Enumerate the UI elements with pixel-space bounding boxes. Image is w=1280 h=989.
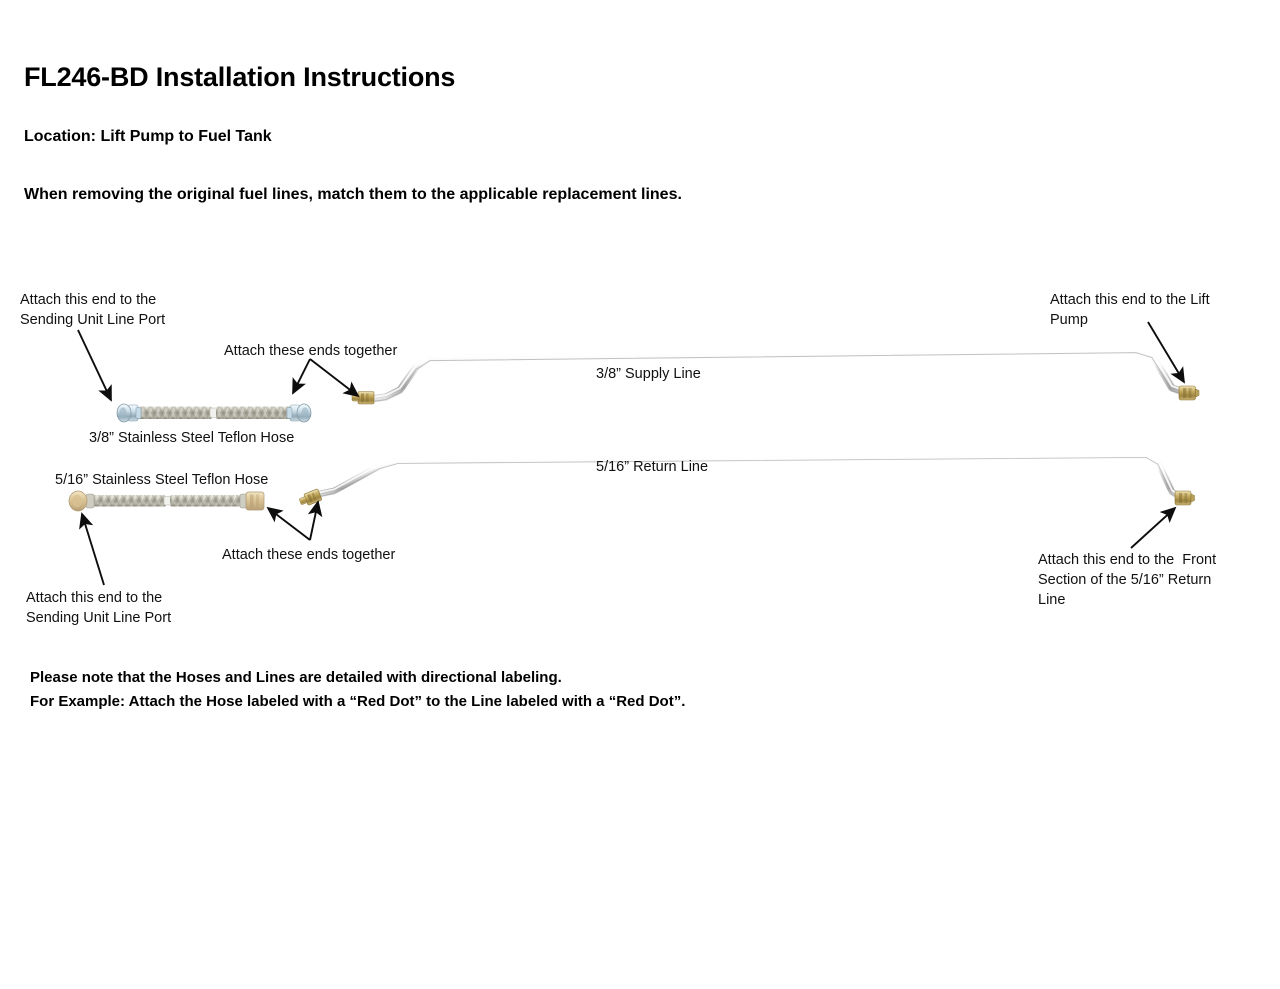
arrow-return-join-right [310, 502, 318, 540]
return-teflon-hose [69, 491, 264, 511]
supply-line-tube [372, 348, 1186, 402]
installation-instructions-page: FL246-BD Installation Instructions Locat… [0, 0, 1280, 989]
label-return-hose: 5/16” Stainless Steel Teflon Hose [55, 470, 268, 490]
annotation-return-front-section: Attach this end to the Front Section of … [1038, 550, 1216, 610]
arrow-return-hose-sending-unit [82, 514, 104, 585]
supply-line-lift-pump-fitting [1179, 386, 1199, 400]
annotation-supply-lift-pump: Attach this end to the Lift Pump [1050, 290, 1210, 330]
arrow-return-front-section [1131, 508, 1175, 548]
return-line-tube [320, 453, 1182, 500]
arrow-return-join-left [268, 508, 310, 540]
annotation-supply-join: Attach these ends together [224, 341, 397, 361]
label-supply-hose: 3/8” Stainless Steel Teflon Hose [89, 428, 294, 448]
footer-note-line-2: For Example: Attach the Hose labeled wit… [30, 690, 685, 714]
return-line-right-fitting [1175, 491, 1195, 505]
label-supply-line: 3/8” Supply Line [596, 364, 701, 384]
supply-hose-right-fitting [287, 404, 311, 422]
return-line-left-fitting [298, 489, 322, 508]
arrow-supply-join-right [310, 359, 358, 396]
supply-hose-left-fitting [117, 404, 141, 422]
fuel-line-diagram [0, 0, 1280, 989]
label-return-line: 5/16” Return Line [596, 457, 708, 477]
annotation-return-join: Attach these ends together [222, 545, 395, 565]
return-hose-right-fitting [240, 492, 264, 510]
annotation-return-hose-sending-unit: Attach this end to the Sending Unit Line… [26, 588, 171, 628]
return-hose-left-fitting [69, 491, 94, 511]
footer-notes: Please note that the Hoses and Lines are… [30, 666, 685, 714]
annotation-supply-hose-sending-unit: Attach this end to the Sending Unit Line… [20, 290, 165, 330]
arrow-supply-hose-sending-unit [78, 330, 111, 400]
supply-teflon-hose [117, 404, 311, 422]
arrow-supply-join-left [293, 359, 310, 393]
footer-note-line-1: Please note that the Hoses and Lines are… [30, 666, 685, 690]
